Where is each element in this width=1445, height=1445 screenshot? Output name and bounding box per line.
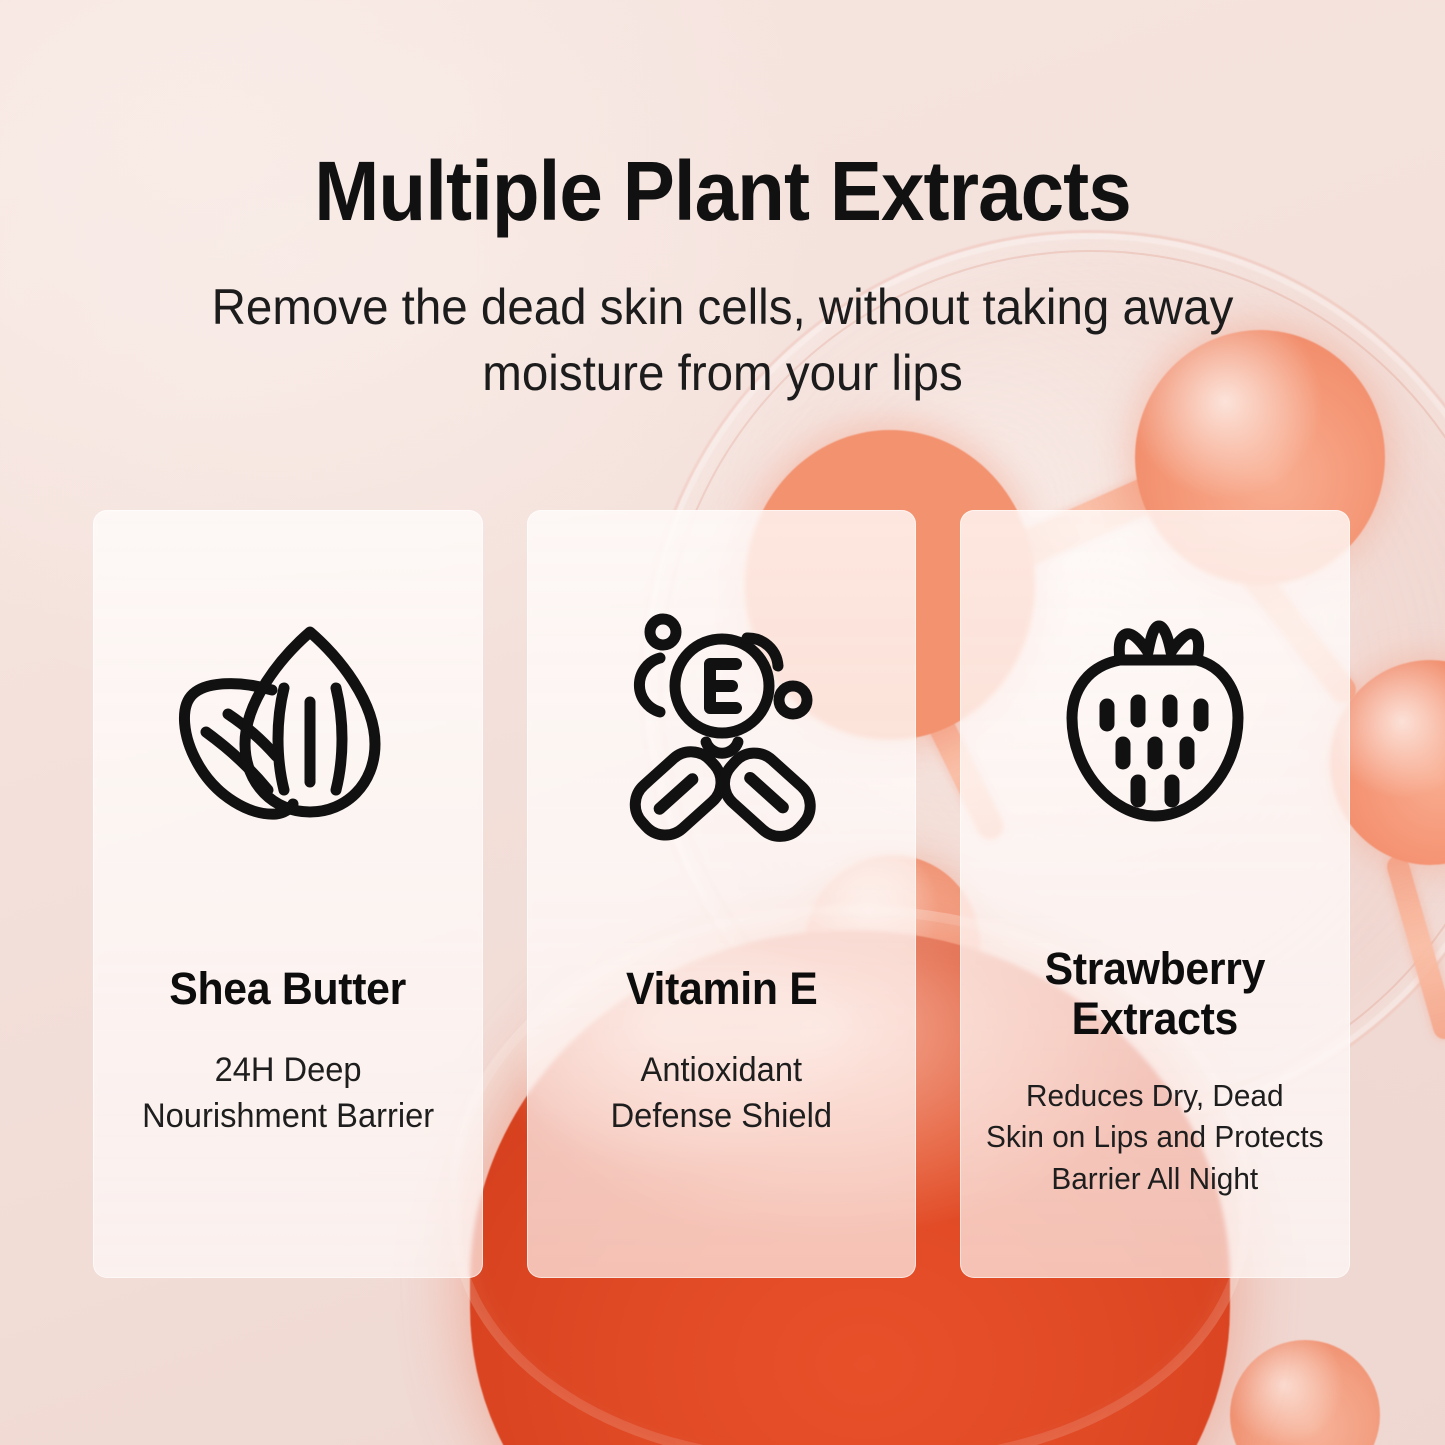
feature-card-title: Strawberry Extracts: [970, 944, 1340, 1045]
feature-card-list: Shea Butter 24H Deep Nourishment Barrier: [93, 510, 1350, 1278]
feature-card-shea-butter[interactable]: Shea Butter 24H Deep Nourishment Barrier: [93, 510, 483, 1278]
page-title: Multiple Plant Extracts: [51, 143, 1395, 240]
feature-card-description: 24H Deep Nourishment Barrier: [126, 1048, 449, 1139]
feature-card-vitamin-e[interactable]: Vitamin E Antioxidant Defense Shield: [527, 510, 917, 1278]
feature-card-title: Shea Butter: [169, 964, 406, 1014]
feature-card-title: Vitamin E: [626, 964, 817, 1014]
feature-card-description: Antioxidant Defense Shield: [595, 1048, 847, 1139]
strawberry-icon: [1060, 606, 1250, 846]
vitamin-e-icon: [614, 606, 830, 846]
product-feature-poster: Multiple Plant Extracts Remove the dead …: [0, 0, 1445, 1445]
feature-card-description: Reduces Dry, Dead Skin on Lips and Prote…: [977, 1075, 1334, 1200]
gel-droplet: [1230, 1340, 1380, 1445]
almond-icon: [172, 606, 404, 846]
feature-card-strawberry-extracts[interactable]: Strawberry Extracts Reduces Dry, Dead Sk…: [960, 510, 1350, 1278]
page-subtitle: Remove the dead skin cells, without taki…: [122, 274, 1324, 406]
